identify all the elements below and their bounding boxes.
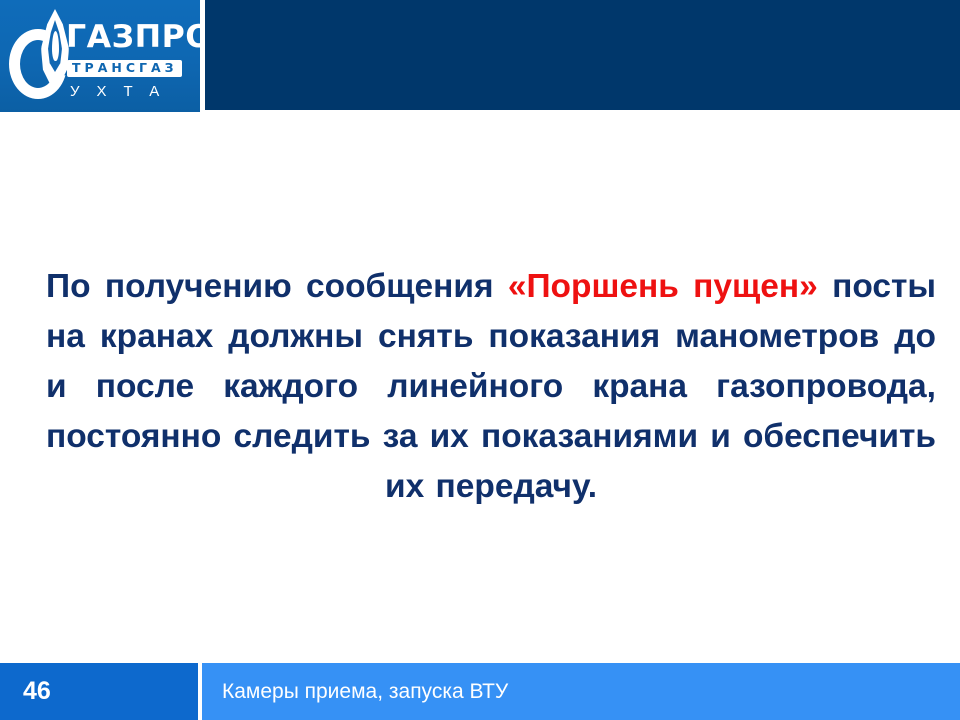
footer-title-box: Камеры приема, запуска ВТУ	[202, 663, 960, 720]
paragraph-highlight-phrase: «Поршень пущен»	[508, 268, 818, 305]
slide-content: По получению сообщения «Поршень пущен» п…	[46, 262, 936, 512]
flame-core-icon	[52, 31, 59, 61]
slide-root: ГАЗПРОМ ТРАНСГАЗ УХТА По получению сообщ…	[0, 0, 960, 720]
logo-wordmark: ГАЗПРОМ	[66, 22, 200, 53]
paragraph-part-1: По получению сообщения	[46, 268, 508, 305]
company-logo-panel: ГАЗПРОМ ТРАНСГАЗ УХТА	[0, 0, 200, 112]
slide-number: 46	[23, 679, 51, 704]
header-navy-band	[205, 0, 960, 110]
slide-number-box: 46	[0, 663, 198, 720]
body-paragraph: По получению сообщения «Поршень пущен» п…	[46, 262, 936, 512]
slide-footer: 46 Камеры приема, запуска ВТУ	[0, 663, 960, 720]
logo-city-ukhta: УХТА	[70, 84, 176, 99]
slide-header: ГАЗПРОМ ТРАНСГАЗ УХТА	[0, 0, 960, 112]
footer-title-text: Камеры приема, запуска ВТУ	[222, 681, 508, 702]
logo-subtitle-transgaz: ТРАНСГАЗ	[67, 60, 182, 77]
